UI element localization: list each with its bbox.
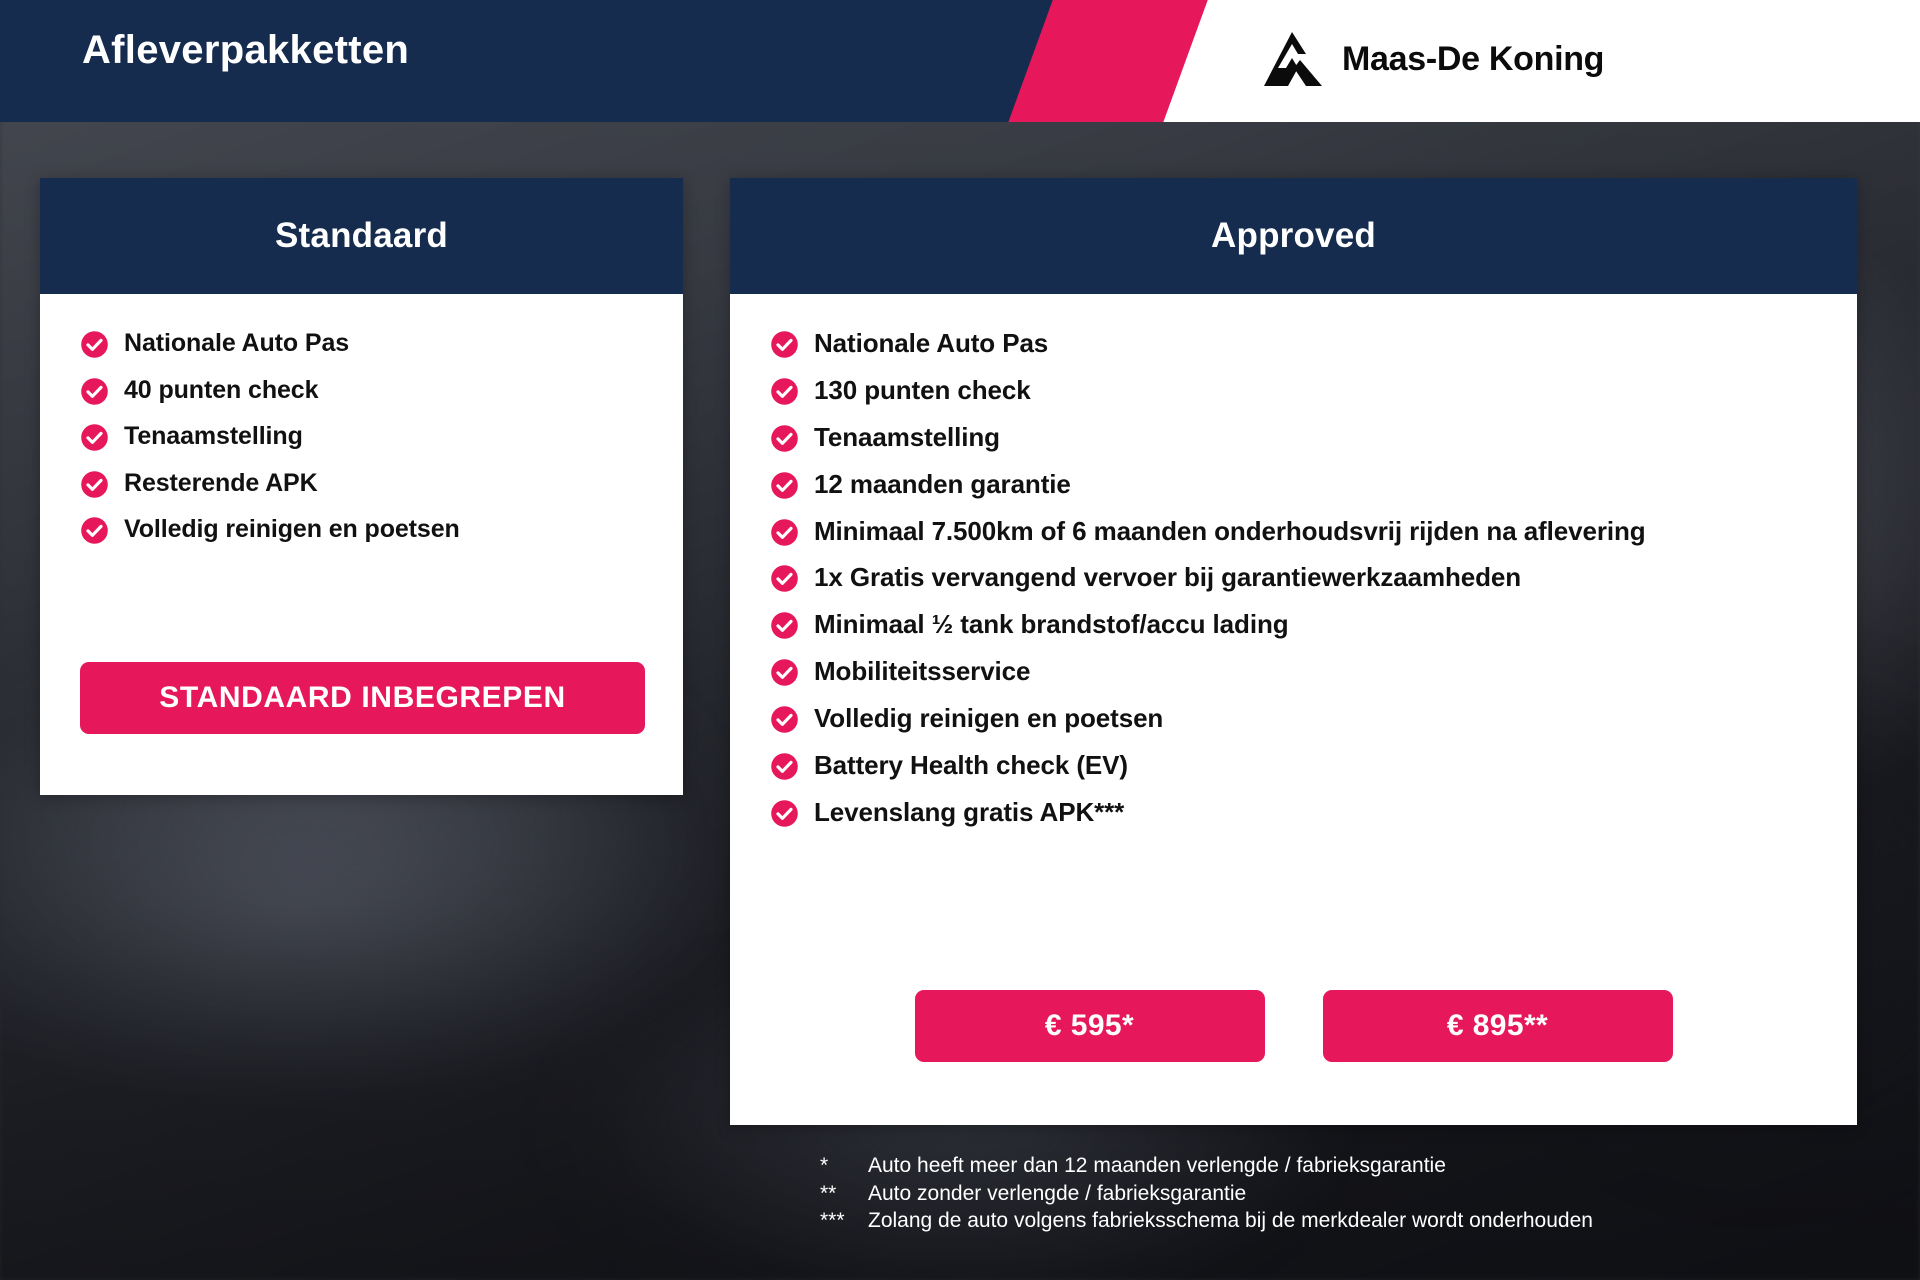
footnote-marker: ** — [820, 1180, 868, 1208]
feature-label: 130 punten check — [814, 373, 1031, 409]
check-circle-icon — [770, 752, 799, 781]
list-item: Nationale Auto Pas — [770, 326, 1819, 362]
footnote-marker: *** — [820, 1207, 868, 1235]
standaard-inbegrepen-button[interactable]: STANDAARD INBEGREPEN — [80, 662, 645, 734]
card-body-approved: Nationale Auto Pas 130 punten check Tena… — [730, 294, 1857, 831]
feature-list-standaard: Nationale Auto Pas 40 punten check Tenaa… — [80, 326, 645, 547]
list-item: Nationale Auto Pas — [80, 326, 645, 361]
price-button-row: € 595* € 895** — [730, 990, 1857, 1062]
feature-label: Resterende APK — [124, 466, 318, 501]
feature-label: Tenaamstelling — [814, 420, 1000, 456]
check-circle-icon — [80, 470, 109, 499]
footnote-text: Auto zonder verlengde / fabrieksgarantie — [868, 1180, 1246, 1208]
check-circle-icon — [80, 330, 109, 359]
footnote-item: * Auto heeft meer dan 12 maanden verleng… — [820, 1152, 1593, 1180]
list-item: Mobiliteitsservice — [770, 654, 1819, 690]
package-card-approved: Approved Nationale Auto Pas 130 punten c — [730, 178, 1857, 1125]
check-circle-icon — [770, 705, 799, 734]
feature-label: 40 punten check — [124, 373, 318, 408]
feature-label: 1x Gratis vervangend vervoer bij garanti… — [814, 560, 1521, 596]
list-item: 12 maanden garantie — [770, 467, 1819, 503]
footnote-item: *** Zolang de auto volgens fabrieksschem… — [820, 1207, 1593, 1235]
check-circle-icon — [770, 518, 799, 547]
feature-list-approved: Nationale Auto Pas 130 punten check Tena… — [770, 326, 1819, 831]
package-card-standaard: Standaard Nationale Auto Pas 40 punten c — [40, 178, 683, 795]
check-circle-icon — [770, 377, 799, 406]
feature-label: Minimaal 7.500km of 6 maanden onderhouds… — [814, 514, 1646, 550]
check-circle-icon — [80, 377, 109, 406]
card-header-standaard: Standaard — [40, 178, 683, 294]
check-circle-icon — [770, 471, 799, 500]
list-item: Minimaal ½ tank brandstof/accu lading — [770, 607, 1819, 643]
page-title: Afleverpakketten — [82, 28, 409, 73]
feature-label: 12 maanden garantie — [814, 467, 1071, 503]
feature-label: Nationale Auto Pas — [124, 326, 349, 361]
feature-label: Mobiliteitsservice — [814, 654, 1030, 690]
slide-root: Afleverpakketten Maas-De Koning Standaar… — [0, 0, 1920, 1280]
list-item: Tenaamstelling — [80, 419, 645, 454]
feature-label: Levenslang gratis APK*** — [814, 795, 1124, 831]
list-item: Levenslang gratis APK*** — [770, 795, 1819, 831]
list-item: Volledig reinigen en poetsen — [80, 512, 645, 547]
check-circle-icon — [770, 564, 799, 593]
card-header-approved: Approved — [730, 178, 1857, 294]
check-circle-icon — [770, 658, 799, 687]
page-header: Afleverpakketten Maas-De Koning — [0, 0, 1920, 122]
price-button-895[interactable]: € 895** — [1323, 990, 1673, 1062]
feature-label: Volledig reinigen en poetsen — [814, 701, 1163, 737]
list-item: Battery Health check (EV) — [770, 748, 1819, 784]
list-item: 130 punten check — [770, 373, 1819, 409]
list-item: 1x Gratis vervangend vervoer bij garanti… — [770, 560, 1819, 596]
check-circle-icon — [770, 330, 799, 359]
check-circle-icon — [770, 799, 799, 828]
brand-name: Maas-De Koning — [1342, 40, 1604, 79]
check-circle-icon — [770, 611, 799, 640]
feature-label: Minimaal ½ tank brandstof/accu lading — [814, 607, 1289, 643]
footnote-text: Auto heeft meer dan 12 maanden verlengde… — [868, 1152, 1446, 1180]
list-item: Minimaal 7.500km of 6 maanden onderhouds… — [770, 514, 1819, 550]
footnote-marker: * — [820, 1152, 868, 1180]
maas-de-koning-m-mark-icon — [1262, 30, 1324, 88]
brand-logo: Maas-De Koning — [1262, 30, 1604, 88]
footnote-text: Zolang de auto volgens fabrieksschema bi… — [868, 1207, 1593, 1235]
list-item: Resterende APK — [80, 466, 645, 501]
check-circle-icon — [80, 516, 109, 545]
list-item: Volledig reinigen en poetsen — [770, 701, 1819, 737]
card-title-standaard: Standaard — [275, 216, 448, 256]
price-button-595[interactable]: € 595* — [915, 990, 1265, 1062]
list-item: 40 punten check — [80, 373, 645, 408]
list-item: Tenaamstelling — [770, 420, 1819, 456]
footnote-list: * Auto heeft meer dan 12 maanden verleng… — [820, 1152, 1593, 1235]
footnote-item: ** Auto zonder verlengde / fabrieksgaran… — [820, 1180, 1593, 1208]
feature-label: Nationale Auto Pas — [814, 326, 1048, 362]
card-body-standaard: Nationale Auto Pas 40 punten check Tenaa… — [40, 294, 683, 547]
feature-label: Tenaamstelling — [124, 419, 303, 454]
check-circle-icon — [770, 424, 799, 453]
feature-label: Volledig reinigen en poetsen — [124, 512, 460, 547]
feature-label: Battery Health check (EV) — [814, 748, 1128, 784]
card-title-approved: Approved — [1211, 216, 1376, 256]
check-circle-icon — [80, 423, 109, 452]
